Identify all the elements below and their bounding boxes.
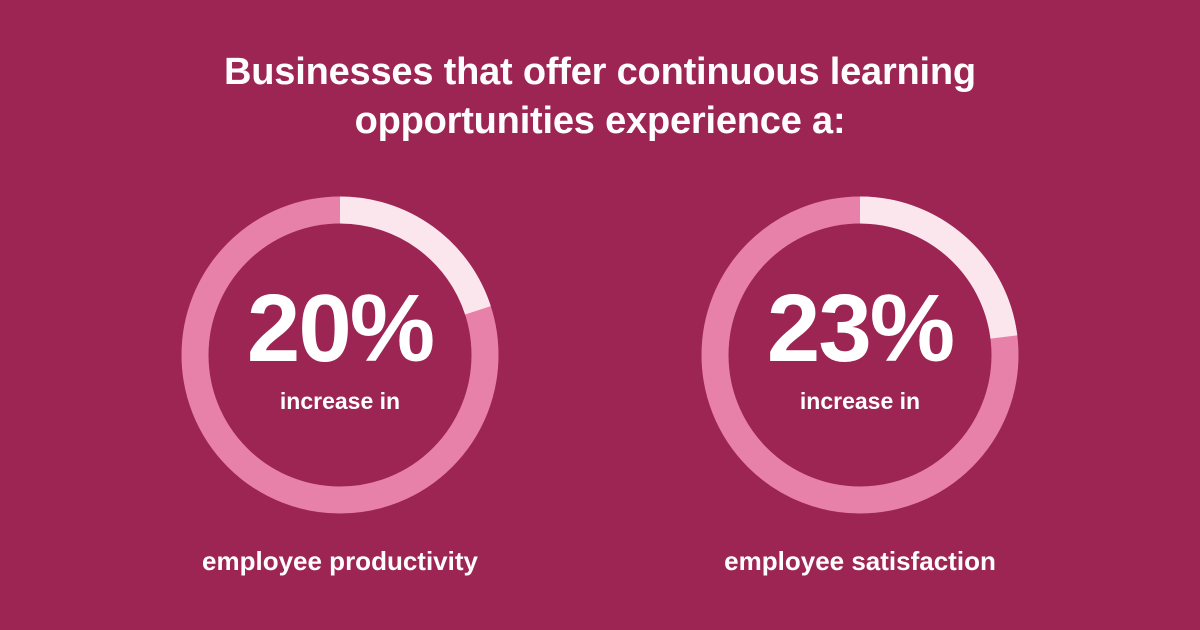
percent-value-productivity: 20% bbox=[247, 282, 433, 376]
stat-employee-productivity: 20% increase in employee productivity bbox=[175, 196, 505, 576]
donut-center-satisfaction: 23% increase in bbox=[701, 196, 1019, 514]
percent-sublabel-productivity: increase in bbox=[280, 388, 400, 414]
donut-chart-satisfaction: 23% increase in bbox=[701, 196, 1019, 514]
caption-employee-productivity: employee productivity bbox=[202, 546, 478, 576]
title-line-1: Businesses that offer continuous learnin… bbox=[0, 48, 1200, 97]
donut-chart-productivity: 20% increase in bbox=[181, 196, 499, 514]
page-title: Businesses that offer continuous learnin… bbox=[0, 48, 1200, 146]
stat-employee-satisfaction: 23% increase in employee satisfaction bbox=[695, 196, 1025, 576]
caption-employee-satisfaction: employee satisfaction bbox=[724, 546, 996, 576]
percent-value-satisfaction: 23% bbox=[767, 282, 953, 376]
stats-row: 20% increase in employee productivity 23… bbox=[0, 196, 1200, 576]
title-line-2: opportunities experience a: bbox=[0, 97, 1200, 146]
donut-center-productivity: 20% increase in bbox=[181, 196, 499, 514]
infographic-canvas: Businesses that offer continuous learnin… bbox=[0, 0, 1200, 630]
percent-sublabel-satisfaction: increase in bbox=[800, 388, 920, 414]
